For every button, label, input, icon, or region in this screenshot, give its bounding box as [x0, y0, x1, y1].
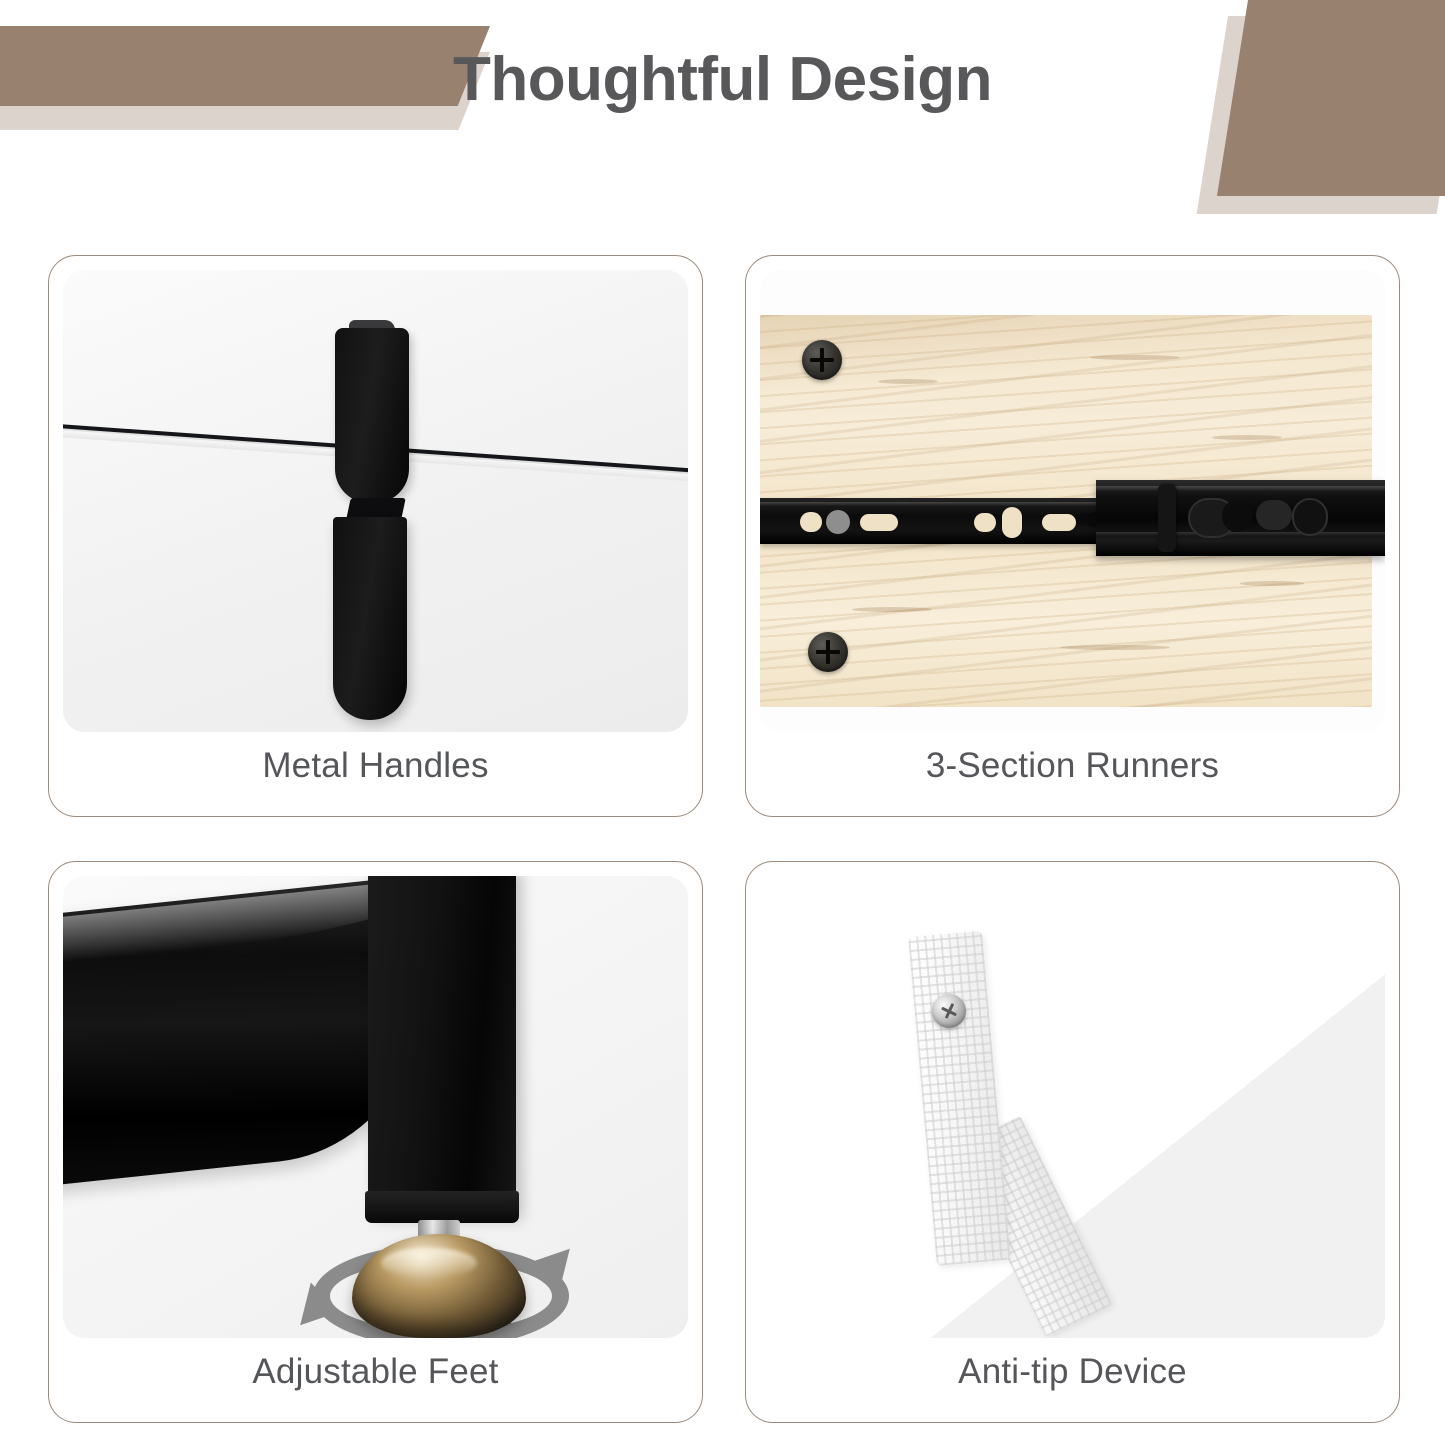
rail-slot: [860, 514, 898, 531]
feature-card-adjustable-feet[interactable]: Adjustable Feet: [48, 861, 703, 1423]
wood-grain-mark: [852, 607, 932, 612]
furniture-leg: [368, 876, 516, 1214]
feature-card-anti-tip-device[interactable]: Anti-tip Device: [745, 861, 1400, 1423]
feature-card-metal-handles[interactable]: Metal Handles: [48, 255, 703, 817]
card-label: Adjustable Feet: [49, 1352, 702, 1392]
feature-card-grid: Metal Handles: [48, 255, 1400, 1423]
header-banner: Thoughtful Design: [0, 0, 1445, 232]
wood-grain-mark: [1090, 355, 1180, 360]
rail-hole: [974, 513, 996, 532]
rail-highlight: [760, 502, 1110, 506]
rail-hole: [800, 512, 822, 532]
three-section-runners-image: [760, 270, 1385, 732]
card-label: Metal Handles: [49, 746, 702, 786]
card-label: 3-Section Runners: [746, 746, 1399, 786]
adjustable-feet-image: [63, 876, 688, 1338]
feature-card-three-section-runners[interactable]: 3-Section Runners: [745, 255, 1400, 817]
metal-handles-image: [63, 270, 688, 732]
runner-inner-rail: [760, 498, 1110, 544]
runner-outer-rail: [1096, 480, 1385, 556]
runner-release-tab: [1158, 484, 1176, 552]
rail-slot: [1042, 514, 1076, 531]
mounting-screw-icon: [808, 632, 848, 672]
lower-handle-icon: [333, 517, 407, 720]
anti-tip-device-image: [760, 876, 1385, 1338]
rail-rivet: [826, 510, 850, 534]
bearing-cutout: [1292, 498, 1328, 536]
wood-grain-mark: [1212, 435, 1282, 440]
bearing-cutout: [1222, 500, 1252, 532]
mounting-screw-icon: [802, 340, 842, 380]
rail-highlight: [1096, 486, 1385, 491]
rail-slot: [1002, 507, 1022, 538]
rail-highlight: [1096, 532, 1385, 536]
dome-highlight: [381, 1248, 477, 1278]
bearing-cutout: [1256, 500, 1292, 530]
upper-handle-icon: [335, 328, 409, 503]
page-title: Thoughtful Design: [0, 44, 1445, 115]
wood-grain-mark: [1240, 581, 1304, 586]
leg-end-cap: [365, 1191, 519, 1223]
wood-grain-mark: [878, 379, 938, 384]
wood-grain-mark: [1060, 645, 1170, 650]
card-label: Anti-tip Device: [746, 1352, 1399, 1392]
